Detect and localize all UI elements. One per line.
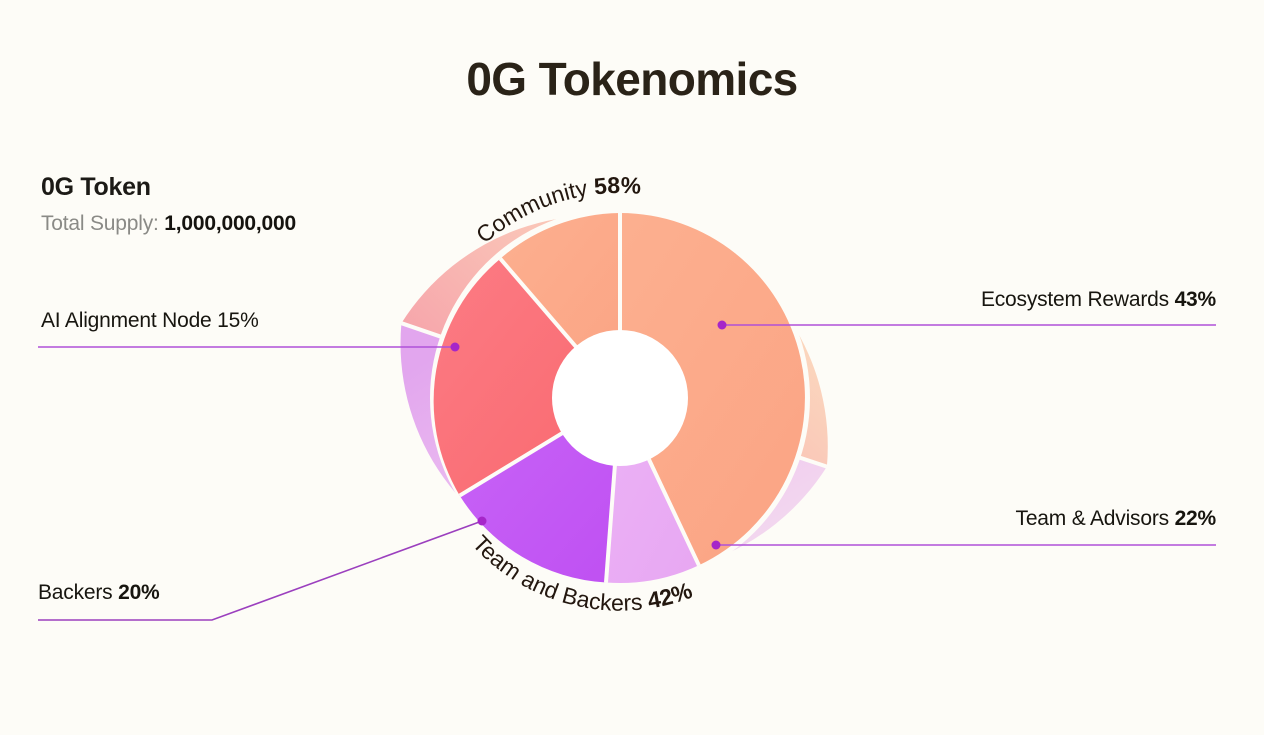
callout-ai-alignment-node[interactable]: AI Alignment Node 15% bbox=[41, 309, 259, 333]
callout-backers-text: Backers 20% bbox=[38, 581, 160, 605]
callout-ecosystem-rewards-text: Ecosystem Rewards 43% bbox=[981, 288, 1216, 312]
page-title: 0G Tokenomics bbox=[0, 52, 1264, 106]
donut-center-hole bbox=[552, 330, 688, 466]
total-supply-value: 1,000,000,000 bbox=[164, 212, 296, 235]
token-name: 0G Token bbox=[41, 172, 296, 203]
callout-team-advisors-text: Team & Advisors 22% bbox=[1016, 507, 1216, 531]
callout-ecosystem-rewards[interactable]: Ecosystem Rewards 43% bbox=[981, 288, 1216, 312]
callout-ai-alignment-node-text: AI Alignment Node 15% bbox=[41, 309, 259, 333]
outer-label-community-pct: 58% bbox=[593, 172, 642, 200]
total-supply-row: Total Supply: 1,000,000,000 bbox=[41, 211, 296, 237]
callout-team-advisors[interactable]: Team & Advisors 22% bbox=[1016, 507, 1216, 531]
total-supply-label: Total Supply: bbox=[41, 212, 159, 235]
supply-block: 0G Token Total Supply: 1,000,000,000 bbox=[41, 172, 296, 238]
callout-backers[interactable]: Backers 20% bbox=[38, 581, 160, 605]
tokenomics-infographic: 0G Tokenomics 0G Token Total Supply: 1,0… bbox=[0, 0, 1264, 735]
donut-chart: Community 58% Team and Backers 42% bbox=[370, 148, 870, 653]
